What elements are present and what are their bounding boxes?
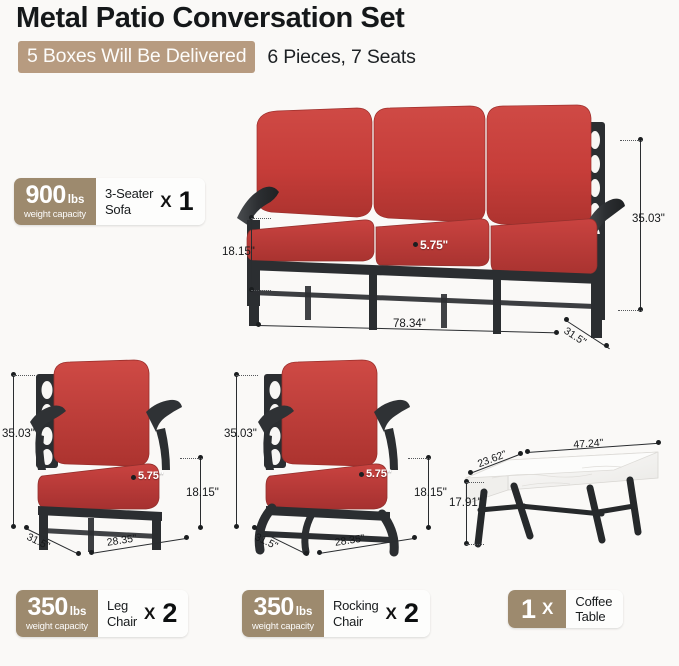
badge-leg-chair-capacity: 350 lbs weight capacity <box>16 590 98 637</box>
leg-chair-cushion-thickness: 5.75" <box>138 470 164 482</box>
leg-chair-width-tick-left <box>89 550 94 555</box>
leg-chair-seat-guide-top <box>180 458 202 459</box>
badge-sofa-item: 3-Seater Sofa X 1 <box>96 178 205 225</box>
rocking-chair-height-guide-top <box>236 375 258 376</box>
badge-sofa: 900 lbs weight capacity 3-Seater Sofa X … <box>14 178 205 225</box>
rocking-chair-height-line <box>236 375 237 527</box>
sofa-width-label: 78.34" <box>393 318 426 330</box>
badge-leg-chair-item-line1: Leg <box>107 598 137 613</box>
leg-chair-width-tick-right <box>184 535 189 540</box>
rocking-chair-depth-tick-far <box>304 551 309 556</box>
badge-leg-chair-item: Leg Chair X 2 <box>98 590 188 637</box>
sofa-depth-tick-far <box>604 343 609 348</box>
sofa-cushion-thickness: 5.75" <box>420 238 448 252</box>
badge-coffee-table-quantity-block: 1 X <box>508 590 566 628</box>
badge-coffee-table: 1 X Coffee Table <box>508 590 623 628</box>
leg-chair-cushion-dot <box>131 475 136 480</box>
rocking-chair-seat-guide-top <box>408 458 430 459</box>
coffee-table-width-tick-right <box>656 440 661 445</box>
sofa-height-guide-bottom <box>618 310 642 311</box>
rocking-chair-cushion-thickness: 5.75" <box>366 468 392 480</box>
sofa-seat-height-guide-bottom <box>251 290 271 291</box>
badge-coffee-table-multiplier: X <box>542 599 553 619</box>
badge-leg-chair-quantity: 2 <box>162 600 177 627</box>
badge-leg-chair-item-line2: Chair <box>107 614 137 629</box>
badge-rocking-chair-capacity-value: 350 <box>254 595 294 620</box>
rocking-chair-width-tick-right <box>412 535 417 540</box>
badge-leg-chair-multiplier: X <box>144 604 155 624</box>
boxes-delivered-badge: 5 Boxes Will Be Delivered <box>18 41 255 73</box>
rocking-chair-back-cushion <box>282 360 377 466</box>
badge-sofa-capacity-unit: lbs <box>68 194 85 206</box>
badge-rocking-chair-multiplier: X <box>386 604 397 624</box>
badge-rocking-chair-item-line2: Chair <box>333 614 379 629</box>
rocking-chair-illustration <box>250 358 430 548</box>
leg-chair-height-label: 35.03" <box>2 428 35 440</box>
badge-rocking-chair-item-line1: Rocking <box>333 598 379 613</box>
badge-rocking-chair-quantity: 2 <box>404 600 419 627</box>
leg-chair-seat-height-tick-bottom <box>198 525 203 530</box>
badge-coffee-table-quantity: 1 <box>521 596 536 623</box>
sofa-height-guide-top <box>620 140 642 141</box>
rocking-chair-right-arm <box>374 400 410 432</box>
badge-coffee-table-item-line2: Table <box>575 609 612 624</box>
leg-chair-illustration <box>22 358 202 548</box>
badge-sofa-capacity-value: 900 <box>26 183 66 208</box>
leg-chair-height-line <box>13 375 14 527</box>
coffee-table-width-label: 47.24" <box>573 437 604 451</box>
leg-chair-seat-height-label: 18.15" <box>186 487 219 499</box>
rocking-chair-height-label: 35.03" <box>224 428 257 440</box>
badge-rocking-chair: 350 lbs weight capacity Rocking Chair X … <box>242 590 430 637</box>
sofa-width-tick-right <box>554 330 559 335</box>
sofa-back-cushions <box>257 105 591 227</box>
leg-chair-back-cushion <box>54 360 149 466</box>
badge-rocking-chair-capacity: 350 lbs weight capacity <box>242 590 324 637</box>
badge-leg-chair-item-name: Leg Chair <box>107 598 137 628</box>
coffee-table-height-guide-bottom <box>466 544 484 545</box>
badge-rocking-chair-capacity-caption: weight capacity <box>252 621 314 632</box>
leg-chair-depth-tick-far <box>76 551 81 556</box>
badge-sofa-item-line1: 3-Seater <box>105 186 153 201</box>
leg-chair-height-tick-bottom <box>11 524 16 529</box>
coffee-table-depth-tick-near <box>468 470 473 475</box>
rocking-chair-height-tick-bottom <box>234 524 239 529</box>
sofa-height-line <box>640 140 641 310</box>
badge-coffee-table-item: Coffee Table <box>566 590 623 628</box>
badge-leg-chair: 350 lbs weight capacity Leg Chair X 2 <box>16 590 188 637</box>
sofa-illustration <box>245 100 635 345</box>
badge-sofa-quantity: 1 <box>179 188 194 215</box>
sofa-height-label: 35.03" <box>632 213 665 225</box>
pieces-seats-text: 6 Pieces, 7 Seats <box>267 46 415 69</box>
rocking-chair-depth-tick-near <box>252 525 257 530</box>
rocking-chair-width-tick-left <box>317 550 322 555</box>
badge-sofa-item-name: 3-Seater Sofa <box>105 186 153 216</box>
badge-rocking-chair-item-name: Rocking Chair <box>333 598 379 628</box>
infographic-page: Metal Patio Conversation Set 5 Boxes Wil… <box>0 0 679 666</box>
badge-sofa-capacity-caption: weight capacity <box>24 209 86 220</box>
sofa-depth-tick-near <box>564 317 569 322</box>
badge-leg-chair-capacity-value: 350 <box>28 595 68 620</box>
coffee-table-height-guide-top <box>466 482 484 483</box>
badge-sofa-multiplier: X <box>160 192 171 212</box>
sofa-cushion-dot <box>413 242 418 247</box>
badge-leg-chair-capacity-unit: lbs <box>70 606 87 618</box>
badge-rocking-chair-capacity-unit: lbs <box>296 606 313 618</box>
sofa-seat-height-label: 18.15" <box>222 246 255 258</box>
leg-chair-height-guide-top <box>13 375 35 376</box>
badge-coffee-table-item-name: Coffee Table <box>575 594 612 624</box>
leg-chair-right-arm <box>146 400 182 432</box>
sofa-width-tick-left <box>256 322 261 327</box>
leg-chair-depth-tick-near <box>24 525 29 530</box>
sofa-seat-height-guide-top <box>251 218 271 219</box>
coffee-table-height-label: 17.91" <box>449 497 482 509</box>
badge-sofa-item-line2: Sofa <box>105 202 153 217</box>
rocking-chair-seat-tick-bottom <box>426 525 431 530</box>
coffee-table-width-tick-left <box>525 449 530 454</box>
coffee-table-height-line <box>466 482 467 544</box>
badge-coffee-table-item-line1: Coffee <box>575 594 612 609</box>
page-title: Metal Patio Conversation Set <box>16 2 404 35</box>
badge-leg-chair-capacity-caption: weight capacity <box>26 621 88 632</box>
rocking-chair-cushion-dot <box>359 472 364 477</box>
coffee-table-depth-tick-far <box>518 451 523 456</box>
header-subrow: 5 Boxes Will Be Delivered 6 Pieces, 7 Se… <box>18 41 416 73</box>
badge-rocking-chair-item: Rocking Chair X 2 <box>324 590 430 637</box>
rocking-chair-seat-height-label: 18.15" <box>414 487 447 499</box>
badge-sofa-capacity: 900 lbs weight capacity <box>14 178 96 225</box>
